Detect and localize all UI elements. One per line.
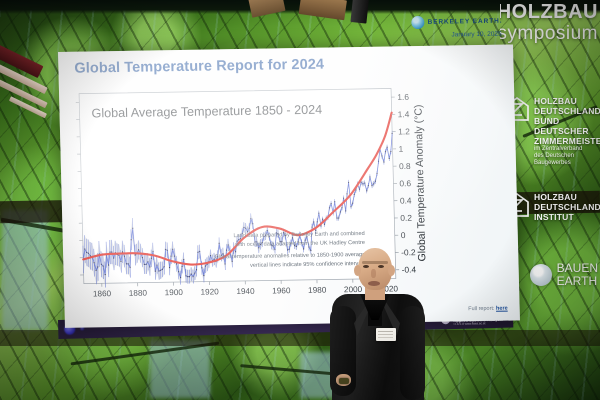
logo-line4: ZIMMERMEISTER	[534, 136, 600, 146]
logo-sub2: des Deutschen Baugewerbes	[534, 153, 600, 167]
svg-text:1: 1	[398, 144, 403, 154]
logo-line1: BAUEN	[557, 262, 598, 275]
full-report-link[interactable]: Full report: here	[468, 306, 508, 313]
logo-line3: BUND DEUTSCHER	[534, 116, 600, 136]
logo-line1: HOLZBAU	[534, 96, 600, 106]
speaker-eye	[363, 265, 369, 268]
truss-post	[350, 0, 369, 24]
logo-line3: INSTITUT	[534, 212, 600, 222]
speaker	[330, 248, 426, 400]
logo-line2: DEUTSCHLAND	[534, 202, 600, 212]
logo-text: BAUEN EARTH	[557, 262, 598, 287]
speaker-brow	[362, 261, 388, 264]
svg-text:0.8: 0.8	[399, 161, 411, 171]
presentation-photo: HOLZBAU symposium HOLZBAU DEUTSCHLAND BU…	[0, 0, 600, 400]
speaker-right-arm	[400, 306, 425, 400]
svg-text:0.6: 0.6	[399, 178, 411, 188]
iiasa-line3: I I A S A www.iiasa.ac.at	[454, 322, 504, 327]
svg-text:1.4: 1.4	[398, 109, 410, 119]
logo-line1: HOLZBAU	[534, 192, 600, 202]
presenter-remote	[339, 378, 349, 384]
speaker-ear	[354, 265, 361, 276]
svg-text:0.4: 0.4	[400, 195, 412, 205]
berkeley-earth-wordmark: BERKELEY EARTH.	[427, 18, 502, 26]
projected-slide: BERKELEY EARTH. January 10, 2025 Global …	[58, 44, 520, 327]
logo-line2: EARTH	[557, 275, 598, 288]
svg-text:1900: 1900	[165, 288, 184, 297]
svg-text:1.2: 1.2	[398, 126, 410, 136]
svg-text:Global Temperature Anomaly (°C: Global Temperature Anomaly (°C)	[412, 104, 428, 261]
event-title-line1: HOLZBAU	[500, 2, 598, 22]
speaker-eye	[378, 265, 384, 268]
logo-text: HOLZBAU DEUTSCHLAND BUND DEUTSCHER ZIMME…	[534, 96, 600, 167]
logo-text: HOLZBAU DEUTSCHLAND INSTITUT	[534, 192, 600, 222]
full-report-label: Full report:	[468, 306, 494, 312]
svg-text:1940: 1940	[236, 287, 255, 296]
speaker-ear	[388, 265, 395, 276]
berkeley-earth-circle-icon	[411, 16, 424, 29]
earth-circle-icon	[530, 264, 552, 286]
speaker-nose	[371, 269, 376, 278]
svg-text:1980: 1980	[308, 286, 327, 295]
event-title: HOLZBAU symposium	[500, 2, 598, 43]
speaker-mouth	[368, 281, 380, 286]
berkeley-earth-logo: BERKELEY EARTH.	[411, 15, 502, 30]
logo-bauen-earth: BAUEN EARTH	[530, 262, 598, 287]
logo-line2: DEUTSCHLAND	[534, 106, 600, 116]
slide-date: January 10, 2025	[451, 31, 501, 39]
svg-text:1860: 1860	[93, 289, 112, 298]
speaker-name-badge	[376, 328, 396, 341]
full-report-here[interactable]: here	[496, 306, 508, 312]
event-title-line2: symposium	[500, 24, 598, 43]
svg-text:1880: 1880	[129, 289, 148, 298]
svg-text:0: 0	[401, 230, 406, 240]
svg-text:0.2: 0.2	[400, 213, 412, 223]
svg-text:1.6: 1.6	[397, 92, 409, 102]
svg-text:1920: 1920	[200, 287, 219, 296]
svg-text:1960: 1960	[272, 286, 291, 295]
